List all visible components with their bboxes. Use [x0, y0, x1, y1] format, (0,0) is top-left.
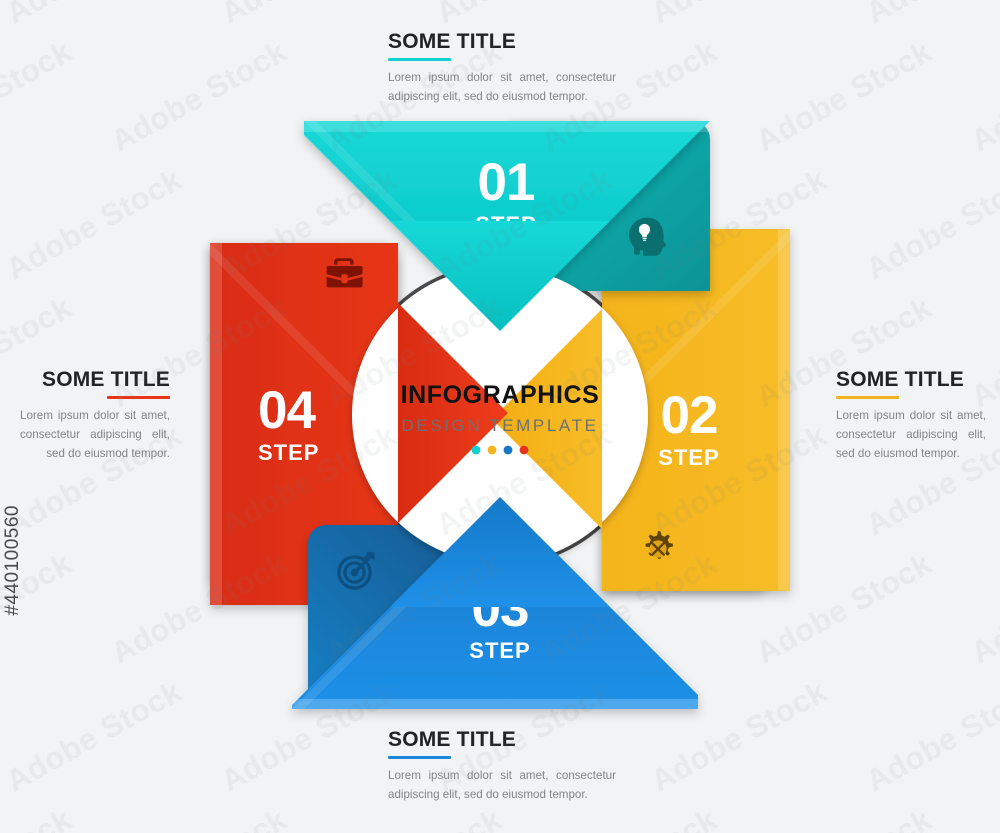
watermark-text: Adobe Stock: [860, 161, 1000, 287]
watermark-text: Adobe Stock: [860, 0, 1000, 31]
block-bottom-rule: [388, 756, 451, 759]
text-block-right: SOME TITLE Lorem ipsum dolor sit amet, c…: [836, 368, 986, 463]
watermark-text: Adobe Stock: [965, 33, 1000, 159]
logo-title: INFOGRAPHICS: [401, 381, 600, 409]
watermark-text: Adobe Stock: [965, 801, 1000, 833]
block-right-body: Lorem ipsum dolor sit amet, consectetur …: [836, 407, 986, 463]
block-right-title: SOME TITLE: [836, 368, 986, 391]
block-left-body: Lorem ipsum dolor sit amet, consectetur …: [20, 407, 170, 463]
step-03-word: STEP: [469, 638, 530, 663]
watermark-text: Adobe Stock: [860, 673, 1000, 799]
block-bottom-body: Lorem ipsum dolor sit amet, consectetur …: [388, 767, 616, 805]
watermark-text: Adobe Stock: [215, 0, 403, 31]
block-top-rule: [388, 58, 451, 61]
block-right-rule: [836, 396, 899, 399]
watermark-text: Adobe Stock: [0, 33, 78, 159]
step-02-edge-light: [778, 229, 790, 591]
text-block-left: SOME TITLE Lorem ipsum dolor sit amet, c…: [20, 368, 170, 463]
watermark-text: Adobe Stock: [535, 801, 723, 833]
watermark-text: Adobe Stock: [0, 0, 188, 31]
step-03-edge-light: [292, 699, 698, 709]
step-02-word: STEP: [658, 445, 719, 470]
block-top-body: Lorem ipsum dolor sit amet, consectetur …: [388, 69, 616, 107]
watermark-text: Adobe Stock: [750, 801, 938, 833]
logo-dot-1: [472, 446, 481, 455]
watermark-text: Adobe Stock: [645, 0, 833, 31]
watermark-text: Adobe Stock: [0, 673, 188, 799]
watermark-text: Adobe Stock: [0, 801, 78, 833]
text-block-top: SOME TITLE Lorem ipsum dolor sit amet, c…: [388, 30, 616, 107]
step-01-number: 01: [478, 153, 535, 212]
watermark-text: Adobe Stock: [965, 545, 1000, 671]
watermark-text: Adobe Stock: [105, 801, 293, 833]
infographic-diagram: 04 STEP 02 STEP: [200, 113, 800, 721]
step-04-edge-light: [210, 243, 222, 605]
step-01-edge-light: [304, 121, 710, 132]
watermark-text: Adobe Stock: [320, 801, 508, 833]
step-02-number: 02: [661, 386, 718, 445]
block-bottom-title: SOME TITLE: [388, 728, 616, 751]
block-top-title: SOME TITLE: [388, 30, 616, 53]
block-left-title: SOME TITLE: [20, 368, 170, 391]
text-block-bottom: SOME TITLE Lorem ipsum dolor sit amet, c…: [388, 728, 616, 805]
logo-subtitle: DESIGN TEMPLATE: [401, 416, 598, 435]
step-04-word: STEP: [258, 440, 319, 465]
logo-dot-2: [488, 446, 497, 455]
logo-dot-4: [520, 446, 529, 455]
logo-dot-3: [504, 446, 513, 455]
stock-id-watermark: #440100560: [2, 505, 24, 616]
block-left-rule: [107, 396, 170, 399]
step-04-number: 04: [258, 381, 316, 440]
watermark-text: Adobe Stock: [0, 161, 188, 287]
watermark-text: Adobe Stock: [430, 0, 618, 31]
